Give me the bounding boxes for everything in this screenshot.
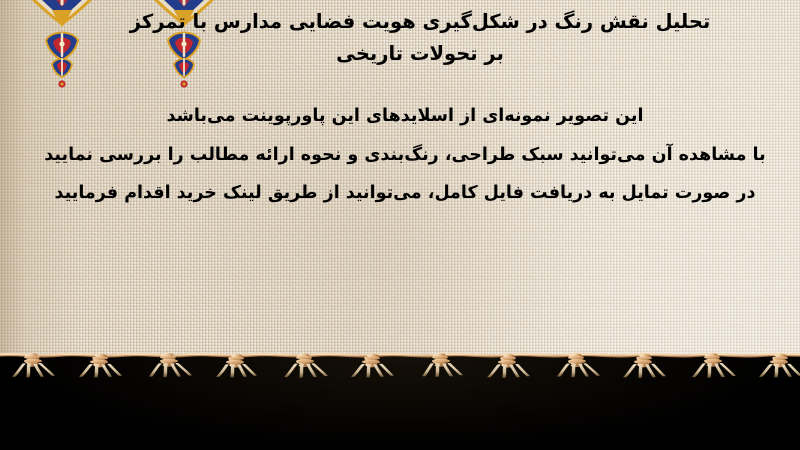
slide-body: این تصویر نمونه‌ای از اسلایدهای این پاور…	[30, 108, 780, 203]
slide-body-line-1: این تصویر نمونه‌ای از اسلایدهای این پاور…	[30, 108, 780, 126]
slide-body-line-3: در صورت تمایل به دریافت فایل کامل، می‌تو…	[30, 185, 780, 203]
slide-text-area: تحلیل نقش رنگ در شکل‌گیری هویت فضایی مدا…	[0, 0, 800, 340]
slide-body-line-2: با مشاهده آن می‌توانید سبک طراحی، رنگ‌بن…	[30, 147, 780, 165]
black-backdrop	[0, 356, 800, 450]
slide-title: تحلیل نقش رنگ در شکل‌گیری هویت فضایی مدا…	[60, 6, 780, 69]
slide-canvas: تحلیل نقش رنگ در شکل‌گیری هویت فضایی مدا…	[0, 0, 800, 450]
slide-title-line-1: تحلیل نقش رنگ در شکل‌گیری هویت فضایی مدا…	[60, 6, 780, 38]
slide-title-line-2: بر تحولات تاریخی	[60, 38, 780, 70]
